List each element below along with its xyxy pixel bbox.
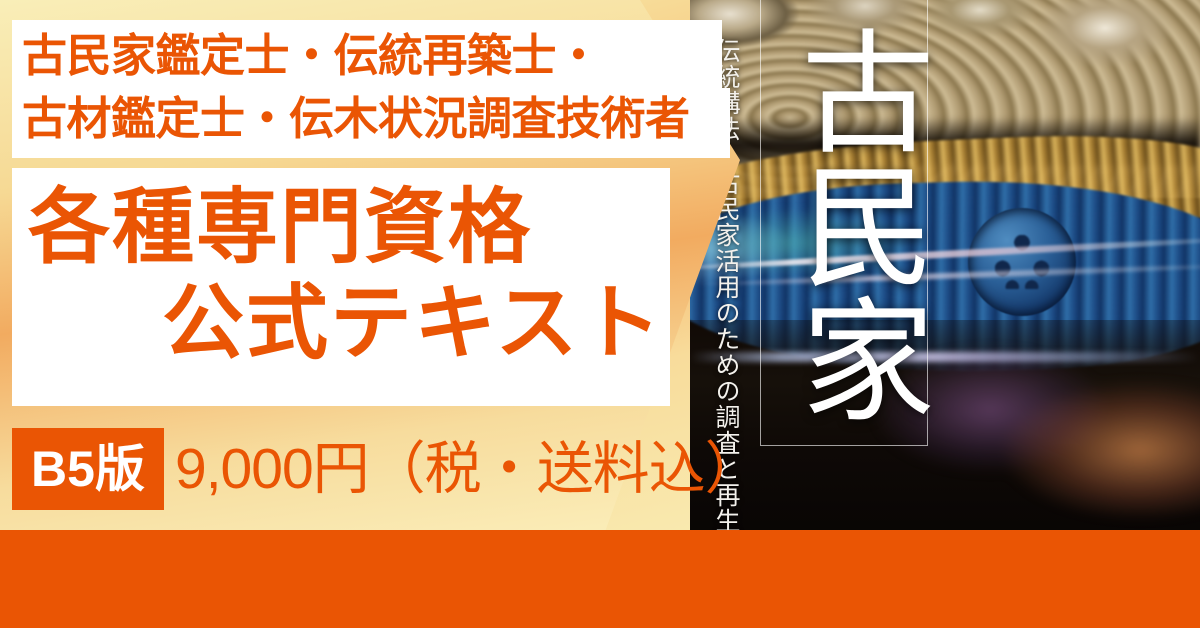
book-cover-title: 古民家 [762, 4, 926, 444]
certification-line-1: 古民家鑑定士・伝統再築士・ [14, 24, 730, 87]
family-crest-medallion [968, 208, 1076, 316]
certifications-text: 古民家鑑定士・伝統再築士・ 古材鑑定士・伝木状況調査技術者 [14, 24, 730, 156]
certification-line-2: 古材鑑定士・伝木状況調査技術者 [14, 87, 730, 150]
cta-bar[interactable]: 詳細・ご購入はこちら [0, 530, 1200, 628]
headline-line-1: 各種専門資格 [28, 178, 532, 278]
format-badge: B5版 [12, 428, 164, 510]
price-text: 9,000円（税・送料込） [175, 428, 761, 510]
headline-group: 各種専門資格 公式テキスト [12, 170, 680, 406]
promo-banner: 伝統構法 古民家活用のための調査と再生の 古民家 古民家鑑定士・伝統再築士・ 古… [0, 0, 1200, 628]
headline-line-2: 公式テキスト [162, 274, 664, 374]
